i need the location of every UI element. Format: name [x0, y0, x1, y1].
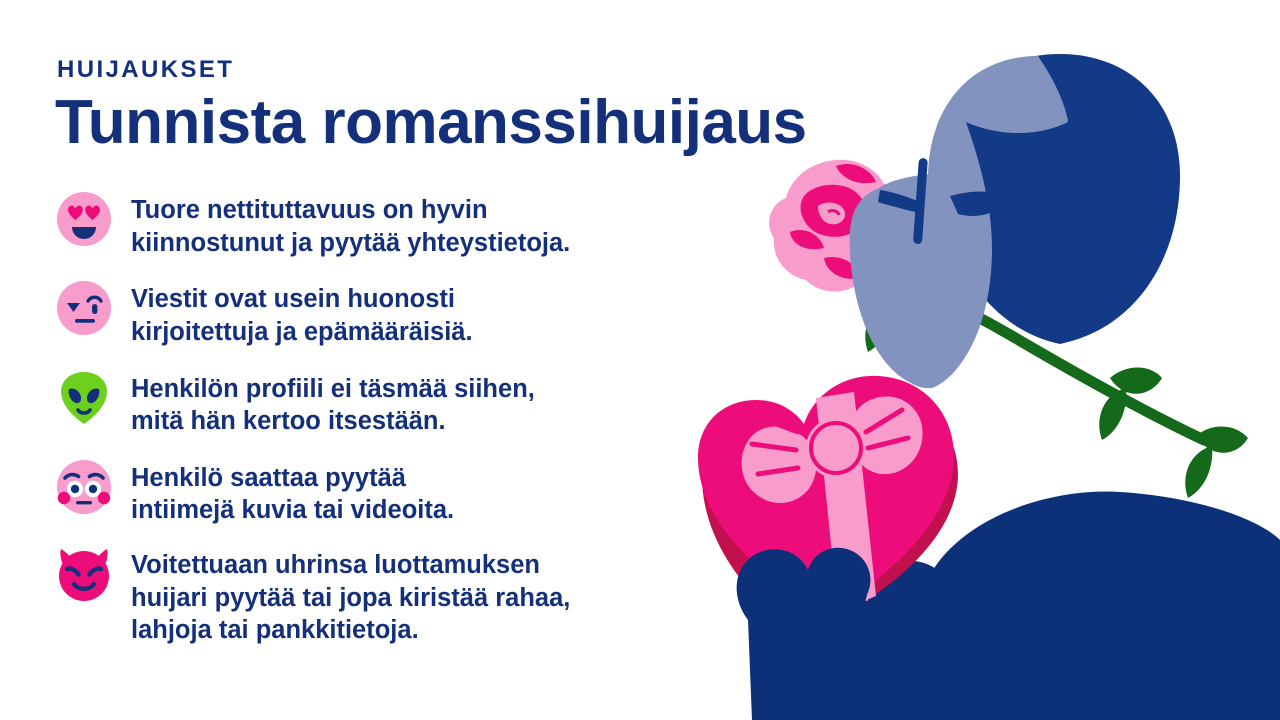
- list-item: Voitettuaan uhrinsa luottamuksen huijari…: [55, 545, 715, 647]
- warning-signs-list: Tuore nettituttavuus on hyvin kiinnostun…: [55, 190, 715, 661]
- romance-scammer-illustration: [640, 0, 1280, 720]
- list-item-text: Henkilön profiili ei täsmää siihen, mitä…: [131, 369, 535, 438]
- list-item-line: intiimejä kuvia tai videoita.: [131, 494, 454, 527]
- list-item-line: Voitettuaan uhrinsa luottamuksen: [131, 549, 570, 582]
- list-item: Henkilön profiili ei täsmää siihen, mitä…: [55, 369, 715, 438]
- list-item-line: huijari pyytää tai jopa kiristää rahaa,: [131, 582, 570, 615]
- flushed-face-icon: [55, 458, 113, 516]
- list-item-line: Tuore nettituttavuus on hyvin: [131, 194, 570, 227]
- list-item-line: lahjoja tai pankkitietoja.: [131, 614, 570, 647]
- list-item-line: Henkilö saattaa pyytää: [131, 462, 454, 495]
- list-item: Henkilö saattaa pyytää intiimejä kuvia t…: [55, 458, 715, 527]
- infographic-page: HUIJAUKSET Tunnista romanssihuijaus Tuor…: [0, 0, 1280, 720]
- list-item: Viestit ovat usein huonosti kirjoitettuj…: [55, 279, 715, 348]
- raised-eyebrow-face-icon: [55, 279, 113, 337]
- alien-face-icon: [55, 369, 113, 427]
- list-item-text: Henkilö saattaa pyytää intiimejä kuvia t…: [131, 458, 454, 527]
- text-column: HUIJAUKSET Tunnista romanssihuijaus Tuor…: [0, 0, 720, 720]
- list-item-line: kirjoitettuja ja epämääräisiä.: [131, 316, 473, 349]
- list-item-text: Voitettuaan uhrinsa luottamuksen huijari…: [131, 545, 570, 647]
- list-item: Tuore nettituttavuus on hyvin kiinnostun…: [55, 190, 715, 259]
- list-item-text: Tuore nettituttavuus on hyvin kiinnostun…: [131, 190, 570, 259]
- kicker-label: HUIJAUKSET: [57, 58, 234, 82]
- list-item-line: Viestit ovat usein huonosti: [131, 283, 473, 316]
- list-item-line: Henkilön profiili ei täsmää siihen,: [131, 373, 535, 406]
- list-item-line: mitä hän kertoo itsestään.: [131, 405, 535, 438]
- heart-eyes-face-icon: [55, 190, 113, 248]
- list-item-text: Viestit ovat usein huonosti kirjoitettuj…: [131, 279, 473, 348]
- list-item-line: kiinnostunut ja pyytää yhteystietoja.: [131, 227, 570, 260]
- devil-face-icon: [55, 545, 113, 603]
